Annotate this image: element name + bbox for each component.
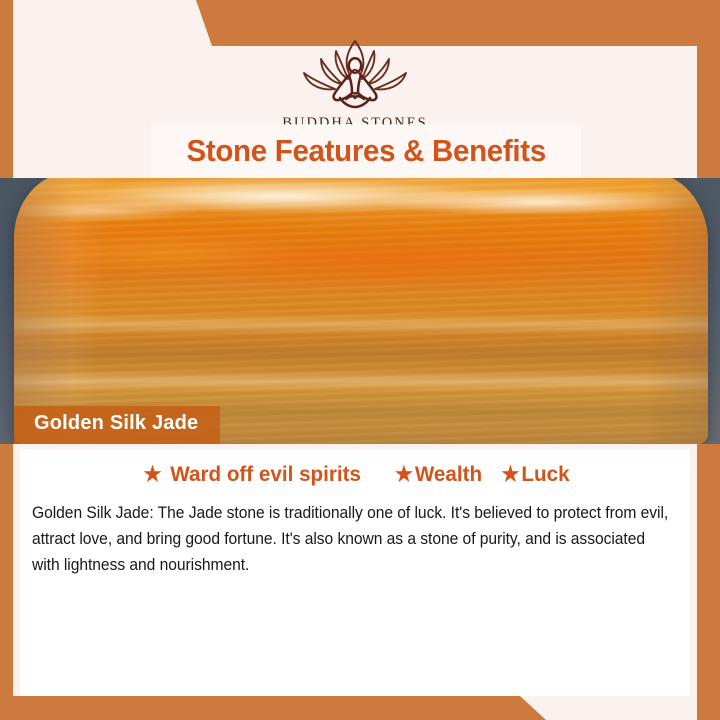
stone-gloss <box>14 178 708 444</box>
title-banner: Stone Features & Benefits <box>152 125 580 177</box>
benefits-row: ★ Ward off evil spirits ★ Wealth ★ Luck <box>20 462 690 487</box>
brand-logo: BUDDHA STONES <box>20 35 690 132</box>
description-paragraph: Golden Silk Jade: The Jade stone is trad… <box>32 500 671 578</box>
benefit-label: Luck <box>522 462 570 487</box>
infographic-canvas: BUDDHA STONES Stone Features & Benefits … <box>0 0 720 720</box>
photo-caption: Golden Silk Jade <box>14 406 220 444</box>
photo-caption-label: Golden Silk Jade <box>34 412 198 434</box>
benefit-item-wealth: ★ Wealth <box>395 462 482 487</box>
stone-right-shading <box>646 178 708 444</box>
jade-stone-image <box>14 178 708 444</box>
benefit-item-ward-off-evil-spirits: ★ Ward off evil spirits <box>143 462 360 487</box>
benefit-label: Ward off evil spirits <box>170 462 361 487</box>
star-icon: ★ <box>143 464 161 485</box>
product-photo: Golden Silk Jade <box>0 178 720 444</box>
star-icon: ★ <box>502 464 520 485</box>
stone-left-shading <box>14 178 72 444</box>
page-title: Stone Features & Benefits <box>186 133 545 169</box>
star-icon: ★ <box>395 464 413 485</box>
benefit-label: Wealth <box>415 462 482 487</box>
lotus-meditation-figure-icon <box>280 35 430 113</box>
benefit-item-luck: ★ Luck <box>502 462 570 487</box>
